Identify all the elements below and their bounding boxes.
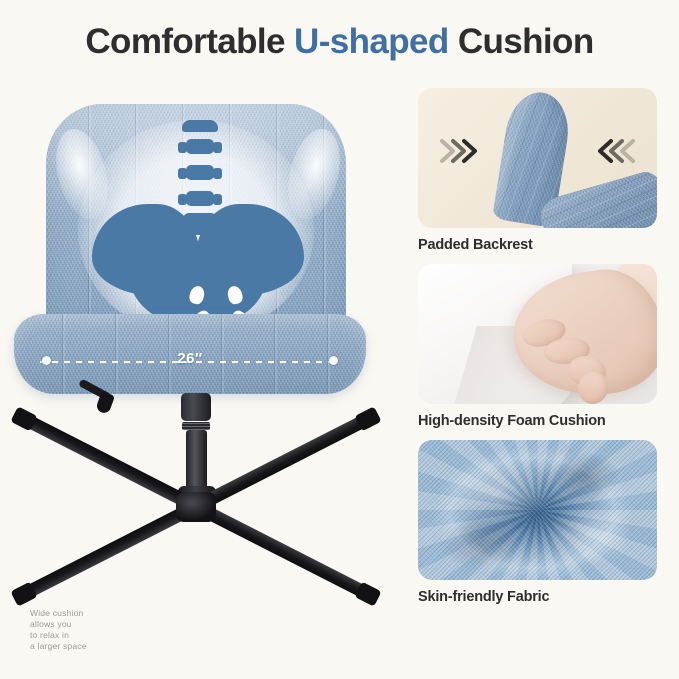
base-foot <box>354 406 381 431</box>
title-accent: U-shaped <box>294 22 449 61</box>
base-foot <box>10 582 37 607</box>
hero-caption-line: to relax in <box>30 630 150 641</box>
base-leg <box>193 501 377 603</box>
sacroiliac-gap-right <box>226 284 244 305</box>
chevron-left-arrows-icon <box>591 138 635 164</box>
vertebra <box>186 165 214 180</box>
feature-card-skin-friendly-fabric[interactable]: Skin-friendly Fabric <box>418 440 658 605</box>
hero-chair-illustration: 26″ Wide cushion allo <box>0 86 400 646</box>
base-center-cap <box>176 492 216 522</box>
chair-base-four-star <box>16 478 376 598</box>
vertebra <box>186 139 214 154</box>
feature-card-label: Padded Backrest <box>418 237 658 253</box>
fabric-weave-texture <box>418 440 657 580</box>
fabric-swatch-photo <box>418 440 657 580</box>
infographic-page: Comfortable U-shaped Cushion <box>0 0 679 679</box>
foam-cushion-photo <box>418 264 657 404</box>
title-part-2: Cushion <box>449 22 594 61</box>
gas-cylinder-collar <box>181 393 211 421</box>
vertebra <box>182 120 218 132</box>
feature-card-label: High-density Foam Cushion <box>418 413 658 429</box>
base-leg <box>15 501 199 603</box>
chevron-right-arrows-icon <box>440 138 484 164</box>
hero-caption-line: a larger space <box>30 641 150 652</box>
hero-caption-line: allows you <box>30 619 150 630</box>
hero-caption-line: Wide cushion <box>30 608 150 619</box>
gas-cylinder-rings <box>182 422 210 430</box>
base-leg <box>193 410 377 512</box>
feature-card-list: Padded Backrest High-density Foam Cushio… <box>418 88 658 616</box>
feature-card-label: Skin-friendly Fabric <box>418 589 658 605</box>
base-leg <box>15 410 199 512</box>
sacroiliac-gap-left <box>188 284 206 305</box>
feature-card-foam-cushion[interactable]: High-density Foam Cushion <box>418 264 658 429</box>
title-part-1: Comfortable <box>85 22 294 61</box>
seat-grommet-right <box>329 356 338 365</box>
office-chair: 26″ <box>0 86 400 646</box>
seat-width-label: 26″ <box>14 350 366 367</box>
padded-backrest-photo <box>418 88 657 228</box>
pelvis-graphic <box>92 204 304 326</box>
feature-card-padded-backrest[interactable]: Padded Backrest <box>418 88 658 253</box>
base-foot <box>354 582 381 607</box>
hero-caption: Wide cushion allows you to relax in a la… <box>30 608 150 652</box>
chair-seat: 26″ <box>14 314 366 394</box>
page-title: Comfortable U-shaped Cushion <box>0 22 679 62</box>
seat-grommet-left <box>42 356 51 365</box>
base-foot <box>10 406 37 431</box>
